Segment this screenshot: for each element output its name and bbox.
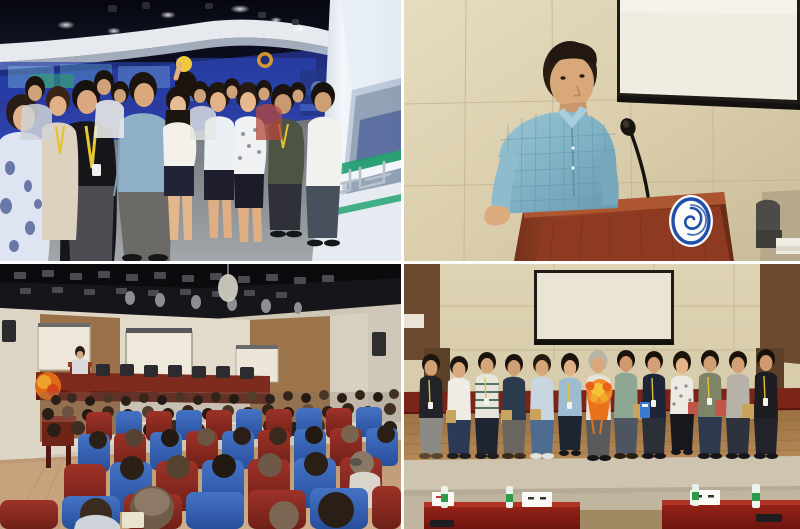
- projection-screen: [534, 270, 674, 345]
- photo-exhibition-hall: Group of visitors touring a blue-lit exh…: [0, 0, 401, 261]
- photo-audience-auditorium: Packed auditorium seen from the back, ro…: [0, 264, 401, 529]
- podium-speaker-illustration: [404, 0, 800, 261]
- photo-collage: Group of visitors touring a blue-lit exh…: [0, 0, 800, 529]
- photo-award-group: Thirteen people lined up on stage holdin…: [404, 264, 800, 529]
- projection-screen: [617, 0, 800, 110]
- auditorium-illustration: [0, 264, 401, 529]
- photo-podium-speaker: Man in blue checked shirt speaking at a …: [404, 0, 800, 261]
- podium-spiral-logo: [669, 195, 713, 247]
- exhibition-hall-illustration: [0, 0, 401, 261]
- award-group-illustration: [404, 264, 800, 529]
